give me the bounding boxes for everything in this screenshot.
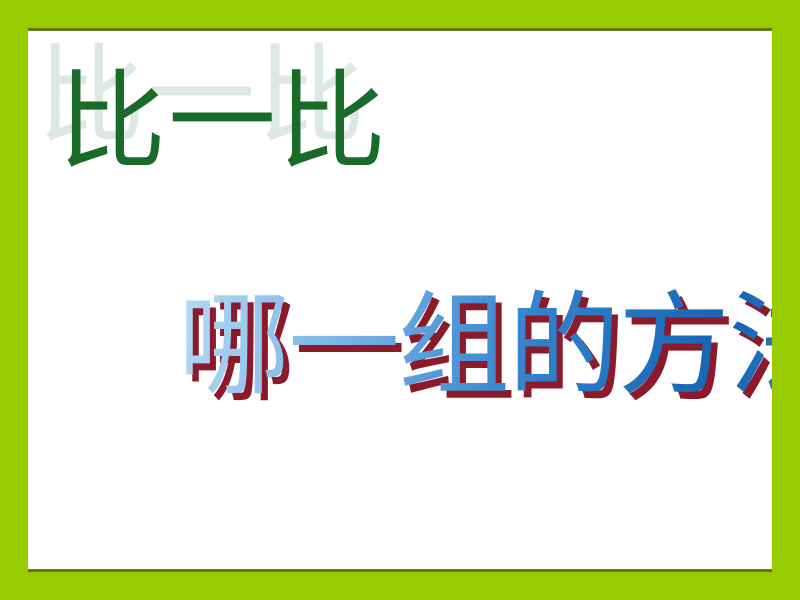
heading-line-1: 比一比 比一比 [58,53,478,203]
heading-line-2-text: 哪一组的方法多！ [178,221,772,471]
slide-canvas: 比一比 比一比 哪一组的方法多！ 哪一组的方法多！ [0,0,800,600]
heading-line-1-text: 比一比 [58,53,388,193]
slide-content-panel: 比一比 比一比 哪一组的方法多！ 哪一组的方法多！ [28,28,772,572]
heading-line-2: 哪一组的方法多！ 哪一组的方法多！ [178,221,772,511]
